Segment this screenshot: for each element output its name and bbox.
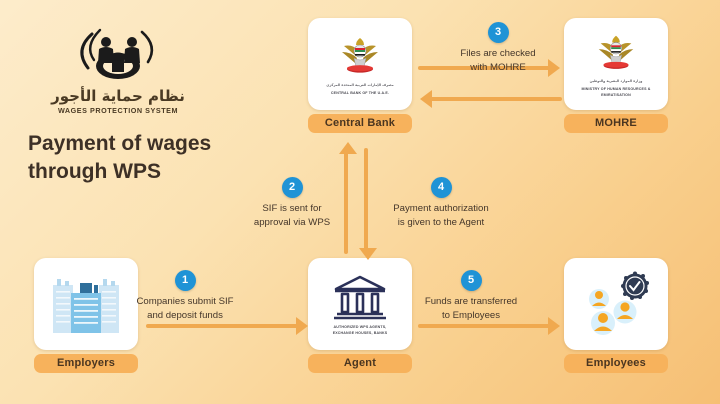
node-label: Employees — [564, 354, 668, 373]
node-subtitle-arabic: وزارة الموارد البشرية والتوطين — [590, 79, 643, 84]
step-number-badge: 3 — [488, 22, 509, 43]
node-subtitle-arabic: مصرف الإمارات العربية المتحدة المركزي — [326, 83, 394, 88]
brand-name-arabic: نظام حماية الأجور — [28, 88, 208, 105]
uae-falcon-emblem-icon — [336, 32, 384, 80]
node-label: MOHRE — [564, 114, 668, 133]
step-3: 3 Files are checkedwith MOHRE — [413, 22, 583, 75]
node-employees: Employees — [564, 258, 668, 373]
step-4: 4 Payment authorizationis given to the A… — [356, 177, 526, 230]
step-text: Payment authorizationis given to the Age… — [356, 202, 526, 230]
wps-logo: نظام حماية الأجور WAGES PROTECTION SYSTE… — [28, 28, 208, 115]
step-2: 2 SIF is sent forapproval via WPS — [207, 177, 377, 230]
step-text: Funds are transferredto Employees — [386, 295, 556, 323]
infographic-canvas: نظام حماية الأجور WAGES PROTECTION SYSTE… — [0, 0, 720, 404]
bank-building-icon — [331, 272, 389, 322]
verified-seal-icon — [621, 272, 649, 301]
node-label: Central Bank — [308, 114, 412, 133]
step-text: SIF is sent forapproval via WPS — [207, 202, 377, 230]
step-5: 5 Funds are transferredto Employees — [386, 270, 556, 323]
node-card — [564, 258, 668, 350]
node-label: Agent — [308, 354, 412, 373]
people-group-icon — [579, 271, 653, 337]
step-number-badge: 4 — [431, 177, 452, 198]
node-subtitle-english: AUTHORIZED WPS AGENTS,EXCHANGE HOUSES, B… — [333, 325, 388, 336]
step-text: Companies submit SIFand deposit funds — [100, 295, 270, 323]
uae-falcon-emblem-icon — [593, 30, 639, 76]
step-number-badge: 5 — [461, 270, 482, 291]
node-label: Employers — [34, 354, 138, 373]
node-central-bank: مصرف الإمارات العربية المتحدة المركزي CE… — [308, 18, 412, 133]
brand-name-english: WAGES PROTECTION SYSTEM — [28, 106, 208, 115]
step-text: Files are checkedwith MOHRE — [413, 47, 583, 75]
node-subtitle-english: CENTRAL BANK OF THE U.A.E. — [331, 91, 389, 96]
node-subtitle-english: MINISTRY OF HUMAN RESOURCES & EMIRATISAT… — [568, 87, 664, 98]
step-number-badge: 2 — [282, 177, 303, 198]
step-number-badge: 1 — [175, 270, 196, 291]
step-1: 1 Companies submit SIFand deposit funds — [100, 270, 270, 323]
node-card: مصرف الإمارات العربية المتحدة المركزي CE… — [308, 18, 412, 110]
wps-handshake-globe-logo-icon — [70, 28, 166, 86]
